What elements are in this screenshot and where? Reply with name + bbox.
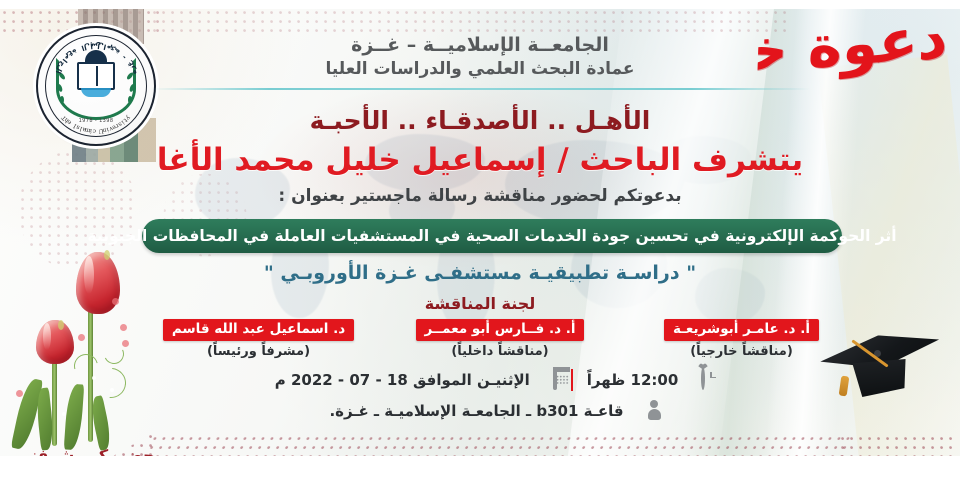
calendar-icon (537, 369, 557, 391)
tulip-flowers-icon (0, 238, 140, 450)
header-divider (150, 88, 810, 90)
committee-member-role: (مناقشاً داخلياً) (392, 344, 609, 359)
university-name: الجامعــة الإسلاميــة – غــزة (0, 34, 960, 56)
greeting-line: الأهـل .. الأصدقـاء .. الأحبـة (0, 106, 960, 135)
event-time: 12:00 ظهراً (587, 371, 678, 389)
committee-member-name: أ. د. فــارس أبو معمــر (416, 319, 585, 341)
event-details: 12:00 ظهراً الإثنيـن الموافق 18 - 07 - 2… (190, 364, 790, 426)
thesis-title: أثر الحوكمة الإلكترونية في تحسين جودة ال… (87, 227, 896, 245)
detail-separator (571, 369, 573, 391)
event-venue: قاعـة b301 ـ الجامعـة الإسلاميـة ـ غـزة. (329, 402, 623, 420)
detail-row-venue: قاعـة b301 ـ الجامعـة الإسلاميـة ـ غـزة. (190, 395, 790, 426)
graduation-cap-icon (812, 318, 952, 413)
committee-member-name: أ. د. عامـر أبوشريعـة (664, 319, 819, 341)
invitation-line: بدعوتكم لحضور مناقشة رسالة ماجستير بعنوا… (0, 186, 960, 206)
committee-member-role: (مشرفاً ورئيساً) (150, 344, 367, 359)
venue-cell: قاعـة b301 ـ الجامعـة الإسلاميـة ـ غـزة. (329, 400, 650, 422)
thesis-subtitle: " دراسـة تطبيقيـة مستشفـى غـزة الأوروبـي… (0, 262, 960, 284)
alarm-clock-icon (685, 369, 705, 391)
invitation-card: الجامعة الإسلامية - غزة The Islamic Univ… (0, 0, 960, 480)
date-cell: الإثنيـن الموافق 18 - 07 - 2022 م (275, 369, 557, 391)
detail-row-datetime: 12:00 ظهراً الإثنيـن الموافق 18 - 07 - 2… (190, 364, 790, 395)
event-date: الإثنيـن الموافق 18 - 07 - 2022 م (275, 371, 530, 389)
thesis-title-banner: أثر الحوكمة الإلكترونية في تحسين جودة ال… (142, 219, 842, 253)
bottom-edge (0, 456, 960, 480)
committee-member: د. اسماعيل عبد الله قاسم (مشرفاً ورئيساً… (150, 318, 367, 359)
committee-member: أ. د. فــارس أبو معمــر (مناقشاً داخلياً… (392, 318, 609, 359)
committee-list: أ. د. عامـر أبوشريعـة (مناقشاً خارجياً) … (150, 318, 850, 366)
researcher-name: يتشرف الباحث / إسماعيل خليل محمد الأغا (0, 142, 960, 178)
top-edge (0, 0, 960, 9)
committee-member-name: د. اسماعيل عبد الله قاسم (163, 319, 354, 341)
committee-heading: لجنة المناقشة (0, 294, 960, 313)
university-header: الجامعــة الإسلاميــة – غــزة عمادة البح… (0, 34, 960, 79)
deanship-name: عمادة البحث العلمي والدراسات العليا (0, 59, 960, 79)
arabesque-band-icon (838, 434, 958, 456)
location-pin-icon (631, 400, 651, 422)
arabesque-band-icon (144, 434, 852, 456)
time-cell: 12:00 ظهراً (587, 369, 705, 391)
